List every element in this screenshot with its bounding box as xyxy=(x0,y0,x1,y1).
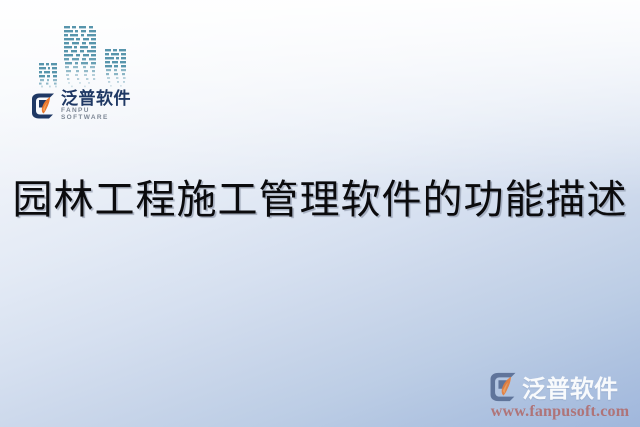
fanpu-logo: 泛普软件 FANPU SOFTWARE xyxy=(28,90,138,121)
fanpu-watermark: 泛普软件 www.fanpusoft.com xyxy=(486,369,634,421)
watermark-chinese-text: 泛普软件 xyxy=(522,369,618,404)
fanpu-logo-english-text: FANPU SOFTWARE xyxy=(61,108,138,121)
watermark-url-text: www.fanpusoft.com xyxy=(486,403,634,421)
watermark-logo-lockup: 泛普软件 xyxy=(486,369,634,404)
presentation-slide: 泛普软件 FANPU SOFTWARE 园林工程施工管理软件的功能描述 泛普软件… xyxy=(0,0,640,427)
fanpu-logo-mark-icon xyxy=(28,91,58,121)
brand-block: 泛普软件 FANPU SOFTWARE xyxy=(26,24,138,121)
watermark-logo-mark-icon xyxy=(486,370,520,404)
fanpu-logo-wordmark: 泛普软件 FANPU SOFTWARE xyxy=(61,90,138,121)
fanpu-logo-chinese-text: 泛普软件 xyxy=(61,90,138,107)
slide-title: 园林工程施工管理软件的功能描述 xyxy=(0,176,640,224)
cityscape-graphic xyxy=(38,24,133,88)
